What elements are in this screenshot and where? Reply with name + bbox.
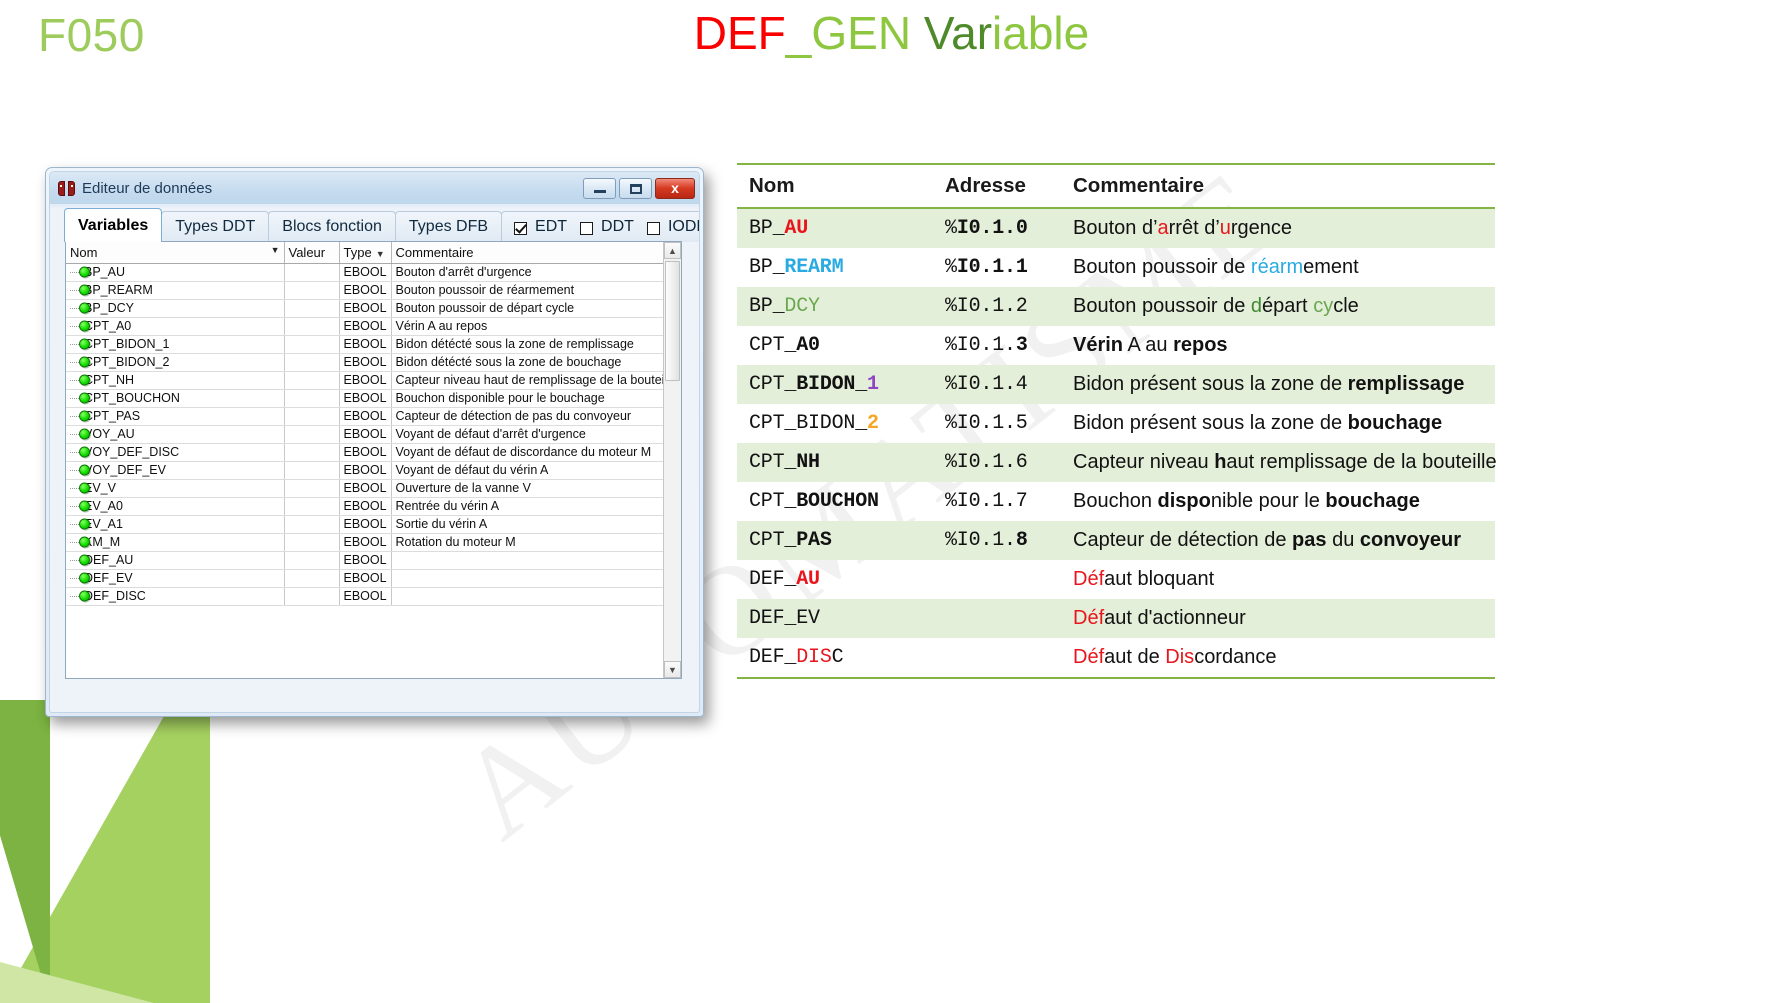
table-row: DEF_DISCDéfaut de Discordance [737, 638, 1495, 678]
tree-line [70, 308, 79, 309]
tab-types-dfb[interactable]: Types DFB [395, 211, 502, 242]
table-row[interactable]: DEF_DISCEBOOL [66, 587, 663, 605]
table-row: BP_REARM%I0.1.1Bouton poussoir de réarme… [737, 248, 1495, 287]
title-part-underscore: _ [786, 7, 812, 59]
scroll-down-icon[interactable]: ▼ [664, 661, 681, 678]
ref-comment-cell: Bouchon disponible pour le bouchage [1061, 482, 1495, 521]
table-row[interactable]: VOY_DEF_DISCEBOOLVoyant de défaut de dis… [66, 443, 663, 461]
variable-comment-cell[interactable]: Rotation du moteur M [391, 533, 663, 551]
table-row[interactable]: CPT_BOUCHONEBOOLBouchon disponible pour … [66, 389, 663, 407]
variable-comment-cell[interactable]: Bidon détécté sous la zone de bouchage [391, 353, 663, 371]
reference-table: Nom Adresse Commentaire BP_AU%I0.1.0Bout… [737, 163, 1495, 679]
variable-type-cell[interactable]: EBOOL [339, 317, 391, 335]
title-part-def: DEF [694, 7, 786, 59]
variable-comment-cell[interactable]: Capteur niveau haut de remplissage de la… [391, 371, 663, 389]
ref-comment-cell: Défaut d'actionneur [1061, 599, 1495, 638]
maximize-button[interactable] [619, 178, 652, 199]
variable-led-icon [79, 501, 90, 512]
col-header-commentaire[interactable]: Commentaire [391, 242, 663, 263]
ref-name-cell: CPT_NH [737, 443, 933, 482]
tree-line [70, 542, 79, 543]
variable-comment-cell[interactable]: Vérin A au repos [391, 317, 663, 335]
variable-name-cell[interactable]: DEF_DISC [66, 587, 284, 605]
ref-comment-cell: Bidon présent sous la zone de remplissag… [1061, 365, 1495, 404]
tree-line [70, 344, 79, 345]
table-row: BP_DCY%I0.1.2Bouton poussoir de départ c… [737, 287, 1495, 326]
table-row[interactable]: BP_REARMEBOOLBouton poussoir de réarmeme… [66, 281, 663, 299]
variable-led-icon [79, 393, 90, 404]
ref-comment-cell: Bouton poussoir de réarmement [1061, 248, 1495, 287]
variable-led-icon [79, 591, 90, 602]
variable-led-icon [79, 357, 90, 368]
variable-name-label: CPT_BOUCHON [84, 391, 180, 405]
variable-name-cell[interactable]: CPT_A0 [66, 317, 284, 335]
variable-comment-cell[interactable]: Bouton poussoir de départ cycle [391, 299, 663, 317]
variable-value-cell[interactable] [284, 317, 339, 335]
variable-name-cell[interactable]: CPT_BOUCHON [66, 389, 284, 407]
variable-name-cell[interactable]: EV_A1 [66, 515, 284, 533]
checkbox-edt[interactable] [514, 222, 527, 235]
variable-value-cell[interactable] [284, 533, 339, 551]
variable-name-cell[interactable]: CPT_NH [66, 371, 284, 389]
col-header-type[interactable]: Type▼ [339, 242, 391, 263]
variable-led-icon [79, 447, 90, 458]
variable-type-cell[interactable]: EBOOL [339, 389, 391, 407]
variable-led-icon [79, 411, 90, 422]
col-header-nom-label: Nom [70, 245, 97, 260]
ref-comment-cell: Bidon présent sous la zone de bouchage [1061, 404, 1495, 443]
ref-address-cell [933, 638, 1061, 678]
variable-comment-cell[interactable]: Voyant de défaut de discordance du moteu… [391, 443, 663, 461]
window-body: Editeur de données x Variables Types DDT… [49, 171, 700, 713]
ref-comment-cell: Bouton poussoir de départ cycle [1061, 287, 1495, 326]
minimize-button[interactable] [583, 178, 616, 199]
variables-rows: BP_AUEBOOLBouton d'arrêt d'urgenceBP_REA… [66, 263, 663, 605]
tree-line [70, 434, 79, 435]
ref-comment-cell: Capteur de détection de pas du convoyeur [1061, 521, 1495, 560]
tree-line [70, 398, 79, 399]
table-row[interactable]: CPT_BIDON_2EBOOLBidon détécté sous la zo… [66, 353, 663, 371]
ref-address-cell: %I0.1.3 [933, 326, 1061, 365]
tree-line [70, 362, 79, 363]
tab-variables-label: Variables [78, 217, 148, 235]
variable-led-icon [79, 339, 90, 350]
decorative-triangle-dark [0, 700, 50, 1003]
vertical-scrollbar[interactable]: ▲ ▼ [663, 242, 681, 678]
variable-comment-cell[interactable]: Voyant de défaut d'arrêt d'urgence [391, 425, 663, 443]
variable-comment-cell[interactable] [391, 569, 663, 587]
tree-line [70, 290, 79, 291]
tree-line [70, 380, 79, 381]
variables-table-header-row: Nom▼ Valeur Type▼ Commentaire [66, 242, 663, 263]
variable-value-cell[interactable] [284, 461, 339, 479]
variable-comment-cell[interactable]: Bouton poussoir de réarmement [391, 281, 663, 299]
variable-name-label: BP_DCY [84, 301, 134, 315]
tree-line [70, 578, 79, 579]
variable-comment-cell[interactable]: Bouchon disponible pour le bouchage [391, 389, 663, 407]
table-row[interactable]: VOY_DEF_EVEBOOLVoyant de défaut du vérin… [66, 461, 663, 479]
variable-led-icon [79, 483, 90, 494]
chevron-down-icon[interactable]: ▼ [376, 249, 385, 259]
table-row: CPT_PAS%I0.1.8Capteur de détection de pa… [737, 521, 1495, 560]
chevron-down-icon[interactable]: ▼ [271, 245, 280, 255]
variable-comment-cell[interactable]: Capteur de détection de pas du convoyeur [391, 407, 663, 425]
variable-name-label: VOY_AU [84, 427, 135, 441]
variable-type-cell[interactable]: EBOOL [339, 533, 391, 551]
ref-name-cell: CPT_BIDON_1 [737, 365, 933, 404]
checkbox-ddt[interactable] [580, 222, 593, 235]
ref-comment-cell: Capteur niveau haut remplissage de la bo… [1061, 443, 1495, 482]
ref-address-cell [933, 599, 1061, 638]
variable-name-cell[interactable]: VOY_DEF_EV [66, 461, 284, 479]
variable-reference-table: Nom Adresse Commentaire BP_AU%I0.1.0Bout… [737, 163, 1495, 679]
variable-name-cell[interactable]: BP_DCY [66, 299, 284, 317]
ref-address-cell: %I0.1.7 [933, 482, 1061, 521]
tab-bar[interactable]: Variables Types DDT Blocs fonction Types… [64, 206, 699, 242]
table-row[interactable]: KM_MEBOOLRotation du moteur M [66, 533, 663, 551]
tree-line [70, 416, 79, 417]
variable-type-cell[interactable]: EBOOL [339, 371, 391, 389]
variable-name-cell[interactable]: DEF_AU [66, 551, 284, 569]
variable-type-cell[interactable]: EBOOL [339, 497, 391, 515]
table-row: DEF_EVDéfaut d'actionneur [737, 599, 1495, 638]
variable-name-cell[interactable]: KM_M [66, 533, 284, 551]
variable-comment-cell[interactable]: Bidon détécté sous la zone de remplissag… [391, 335, 663, 353]
tab-variables[interactable]: Variables [64, 208, 162, 242]
variable-value-cell[interactable] [284, 515, 339, 533]
table-row[interactable]: CPT_A0EBOOLVérin A au repos [66, 317, 663, 335]
ref-comment-cell: Bouton d’arrêt d’urgence [1061, 208, 1495, 248]
table-row: CPT_BOUCHON%I0.1.7Bouchon disponible pou… [737, 482, 1495, 521]
page-title: DEF_GEN Variable [0, 6, 1783, 60]
variable-type-cell[interactable]: EBOOL [339, 335, 391, 353]
variable-led-icon [79, 303, 90, 314]
variable-name-label: BP_AU [84, 265, 125, 279]
variable-type-cell[interactable]: EBOOL [339, 299, 391, 317]
ref-name-cell: DEF_EV [737, 599, 933, 638]
variable-name-label: CPT_BIDON_1 [84, 337, 169, 351]
variable-value-cell[interactable] [284, 497, 339, 515]
variable-value-cell[interactable] [284, 353, 339, 371]
ref-address-cell: %I0.1.8 [933, 521, 1061, 560]
ref-address-cell: %I0.1.6 [933, 443, 1061, 482]
variable-type-cell[interactable]: EBOOL [339, 515, 391, 533]
variable-comment-cell[interactable]: Voyant de défaut du vérin A [391, 461, 663, 479]
variable-name-label: CPT_PAS [84, 409, 140, 423]
variable-name-label: DEF_EV [84, 571, 133, 585]
ref-col-adresse: Adresse [933, 164, 1061, 208]
table-row: DEF_AUDéfaut bloquant [737, 560, 1495, 599]
tree-line [70, 452, 79, 453]
variable-name-label: CPT_BIDON_2 [84, 355, 169, 369]
variable-type-cell[interactable]: EBOOL [339, 569, 391, 587]
variable-name-label: DEF_AU [84, 553, 133, 567]
table-row: CPT_BIDON_1%I0.1.4Bidon présent sous la … [737, 365, 1495, 404]
variable-type-cell[interactable]: EBOOL [339, 425, 391, 443]
variable-name-cell[interactable]: BP_REARM [66, 281, 284, 299]
ref-name-cell: BP_REARM [737, 248, 933, 287]
tree-line [70, 506, 79, 507]
variable-name-cell[interactable]: BP_AU [66, 263, 284, 281]
scrollbar-track[interactable] [664, 259, 681, 661]
ref-name-cell: CPT_PAS [737, 521, 933, 560]
variable-name-cell[interactable]: EV_A0 [66, 497, 284, 515]
close-button[interactable]: x [655, 178, 695, 199]
tab-blocs-fonction-label: Blocs fonction [282, 218, 382, 236]
col-header-nom[interactable]: Nom▼ [66, 242, 284, 263]
variable-type-cell[interactable]: EBOOL [339, 443, 391, 461]
variable-name-label: CPT_NH [84, 373, 134, 387]
variables-grid-body[interactable]: Nom▼ Valeur Type▼ Commentaire BP_AUEBOOL… [66, 242, 663, 678]
window-titlebar[interactable]: Editeur de données x [50, 172, 699, 204]
ref-name-cell: BP_DCY [737, 287, 933, 326]
table-row: CPT_BIDON_2%I0.1.5Bidon présent sous la … [737, 404, 1495, 443]
ref-address-cell: %I0.1.1 [933, 248, 1061, 287]
ref-col-nom: Nom [737, 164, 933, 208]
ref-address-cell: %I0.1.2 [933, 287, 1061, 326]
variable-value-cell[interactable] [284, 479, 339, 497]
table-row[interactable]: DEF_AUEBOOL [66, 551, 663, 569]
variable-name-cell[interactable]: CPT_BIDON_1 [66, 335, 284, 353]
variable-name-cell[interactable]: EV_V [66, 479, 284, 497]
variable-value-cell[interactable] [284, 551, 339, 569]
table-row[interactable]: EV_A1EBOOLSortie du vérin A [66, 515, 663, 533]
checkbox-ioddt[interactable] [647, 222, 660, 235]
scrollbar-thumb[interactable] [665, 261, 680, 381]
variable-name-label: CPT_A0 [84, 319, 131, 333]
ref-name-cell: DEF_DISC [737, 638, 933, 678]
variable-type-cell[interactable]: EBOOL [339, 407, 391, 425]
variables-grid[interactable]: Nom▼ Valeur Type▼ Commentaire BP_AUEBOOL… [65, 241, 682, 679]
table-row[interactable]: EV_VEBOOLOuverture de la vanne V [66, 479, 663, 497]
variable-type-cell[interactable]: EBOOL [339, 263, 391, 281]
variable-value-cell[interactable] [284, 371, 339, 389]
table-row[interactable]: EV_A0EBOOLRentrée du vérin A [66, 497, 663, 515]
editeur-de-donnees-window[interactable]: Editeur de données x Variables Types DDT… [45, 167, 704, 717]
variable-type-cell[interactable]: EBOOL [339, 587, 391, 605]
variable-name-cell[interactable]: VOY_AU [66, 425, 284, 443]
variable-comment-cell[interactable]: Bouton d'arrêt d'urgence [391, 263, 663, 281]
table-row[interactable]: DEF_EVEBOOL [66, 569, 663, 587]
col-header-commentaire-label: Commentaire [396, 245, 474, 260]
variable-name-label: BP_REARM [84, 283, 153, 297]
checkbox-ddt-label: DDT [601, 218, 634, 236]
variable-name-cell[interactable]: VOY_DEF_DISC [66, 443, 284, 461]
variable-comment-cell[interactable] [391, 587, 663, 605]
tree-line [70, 470, 79, 471]
variable-type-cell[interactable]: EBOOL [339, 461, 391, 479]
variable-name-label: VOY_DEF_EV [84, 463, 166, 477]
tab-types-ddt[interactable]: Types DDT [161, 211, 269, 242]
variable-led-icon [79, 267, 90, 278]
app-book-icon [58, 180, 75, 197]
variable-led-icon [79, 285, 90, 296]
title-part-gen: GEN [811, 7, 911, 59]
variable-name-label: VOY_DEF_DISC [84, 445, 179, 459]
ref-comment-cell: Vérin A au repos [1061, 326, 1495, 365]
variable-value-cell[interactable] [284, 443, 339, 461]
checkbox-edt-label: EDT [535, 218, 567, 236]
table-row[interactable]: BP_DCYEBOOLBouton poussoir de départ cyc… [66, 299, 663, 317]
tree-line [70, 524, 79, 525]
variable-led-icon [79, 429, 90, 440]
variable-value-cell[interactable] [284, 335, 339, 353]
ref-name-cell: CPT_A0 [737, 326, 933, 365]
variable-led-icon [79, 375, 90, 386]
col-header-valeur[interactable]: Valeur [284, 242, 339, 263]
window-title: Editeur de données [82, 180, 580, 197]
variable-value-cell[interactable] [284, 407, 339, 425]
variable-name-label: DEF_DISC [84, 589, 146, 603]
variable-led-icon [79, 519, 90, 530]
variable-type-cell[interactable]: EBOOL [339, 479, 391, 497]
tab-blocs-fonction[interactable]: Blocs fonction [268, 211, 396, 242]
variable-comment-cell[interactable] [391, 551, 663, 569]
variable-comment-cell[interactable]: Rentrée du vérin A [391, 497, 663, 515]
ref-name-cell: BP_AU [737, 208, 933, 248]
variable-value-cell[interactable] [284, 281, 339, 299]
tree-line [70, 560, 79, 561]
variable-led-icon [79, 555, 90, 566]
variable-value-cell[interactable] [284, 389, 339, 407]
slide-canvas: F050 DEF_GEN Variable AUTOMATISME Editeu… [0, 0, 1783, 1003]
scroll-up-icon[interactable]: ▲ [664, 242, 681, 259]
ref-address-cell [933, 560, 1061, 599]
table-row[interactable]: BP_AUEBOOLBouton d'arrêt d'urgence [66, 263, 663, 281]
variable-led-icon [79, 321, 90, 332]
variable-name-cell[interactable]: CPT_BIDON_2 [66, 353, 284, 371]
variable-value-cell[interactable] [284, 587, 339, 605]
ref-name-cell: CPT_BOUCHON [737, 482, 933, 521]
ref-comment-cell: Défaut de Discordance [1061, 638, 1495, 678]
col-header-type-label: Type [344, 245, 372, 260]
table-row[interactable]: CPT_BIDON_1EBOOLBidon détécté sous la zo… [66, 335, 663, 353]
title-part-var: Var [924, 7, 992, 59]
variable-value-cell[interactable] [284, 299, 339, 317]
ref-comment-cell: Défaut bloquant [1061, 560, 1495, 599]
tree-line [70, 326, 79, 327]
variable-value-cell[interactable] [284, 569, 339, 587]
variable-led-icon [79, 573, 90, 584]
ref-name-cell: CPT_BIDON_2 [737, 404, 933, 443]
variable-comment-cell[interactable]: Sortie du vérin A [391, 515, 663, 533]
type-filter-group[interactable]: EDT DDT IODDT [501, 211, 700, 242]
table-row[interactable]: CPT_NHEBOOLCapteur niveau haut de rempli… [66, 371, 663, 389]
tab-types-ddt-label: Types DDT [175, 218, 255, 236]
variable-type-cell[interactable]: EBOOL [339, 551, 391, 569]
close-icon: x [656, 179, 694, 198]
col-header-valeur-label: Valeur [289, 245, 326, 260]
tree-line [70, 272, 79, 273]
title-part-space [911, 7, 924, 59]
ref-name-cell: DEF_AU [737, 560, 933, 599]
variable-comment-cell[interactable]: Ouverture de la vanne V [391, 479, 663, 497]
title-part-iable: iable [992, 7, 1089, 59]
table-row[interactable]: CPT_PASEBOOLCapteur de détection de pas … [66, 407, 663, 425]
variable-value-cell[interactable] [284, 425, 339, 443]
table-row[interactable]: VOY_AUEBOOLVoyant de défaut d'arrêt d'ur… [66, 425, 663, 443]
table-row: CPT_A0%I0.1.3Vérin A au repos [737, 326, 1495, 365]
variable-led-icon [79, 465, 90, 476]
variable-name-cell[interactable]: CPT_PAS [66, 407, 284, 425]
reference-table-rows: BP_AU%I0.1.0Bouton d’arrêt d’urgenceBP_R… [737, 208, 1495, 678]
reference-table-header-row: Nom Adresse Commentaire [737, 164, 1495, 208]
tab-types-dfb-label: Types DFB [409, 218, 488, 236]
tree-line [70, 488, 79, 489]
ref-address-cell: %I0.1.0 [933, 208, 1061, 248]
variable-type-cell[interactable]: EBOOL [339, 281, 391, 299]
ref-address-cell: %I0.1.5 [933, 404, 1061, 443]
ref-col-commentaire: Commentaire [1061, 164, 1495, 208]
table-row: BP_AU%I0.1.0Bouton d’arrêt d’urgence [737, 208, 1495, 248]
tree-line [70, 596, 79, 597]
variables-table: Nom▼ Valeur Type▼ Commentaire BP_AUEBOOL… [66, 242, 663, 606]
variable-led-icon [79, 537, 90, 548]
variable-name-cell[interactable]: DEF_EV [66, 569, 284, 587]
variable-value-cell[interactable] [284, 263, 339, 281]
table-row: CPT_NH%I0.1.6Capteur niveau haut remplis… [737, 443, 1495, 482]
checkbox-ioddt-label: IODDT [668, 218, 700, 236]
variable-type-cell[interactable]: EBOOL [339, 353, 391, 371]
ref-address-cell: %I0.1.4 [933, 365, 1061, 404]
